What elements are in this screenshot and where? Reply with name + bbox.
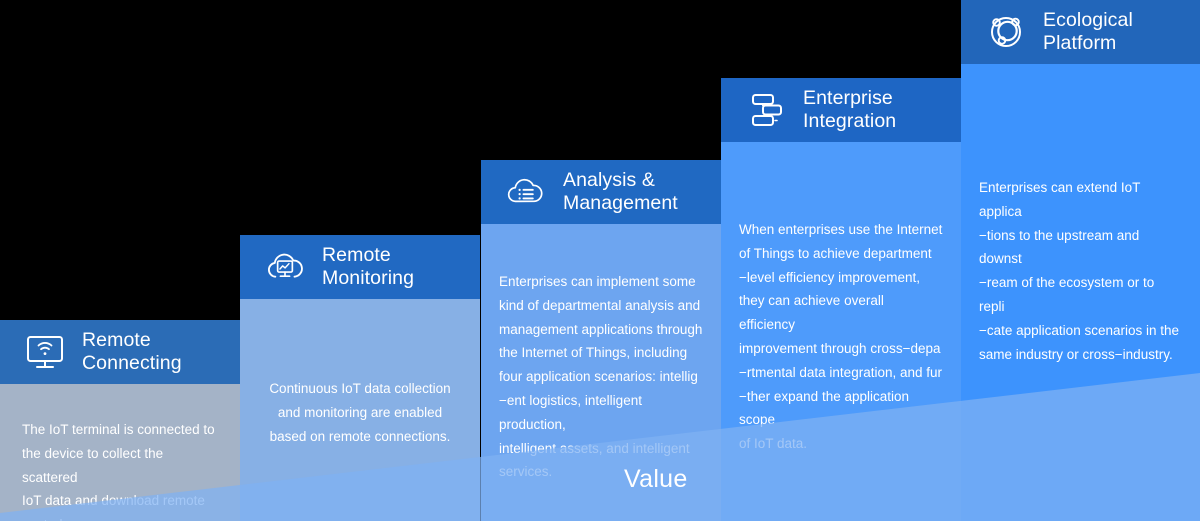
stage-title: Enterprise Integration (803, 87, 896, 133)
stage-card-remote-connecting[interactable]: Remote Connecting The IoT terminal is co… (0, 320, 240, 521)
monitor-wifi-icon (22, 329, 68, 375)
stage-title: Ecological Platform (1043, 9, 1133, 55)
stage-header: Remote Connecting (0, 320, 240, 384)
stage-header: Remote Monitoring (240, 235, 480, 299)
stage-header: Ecological Platform (961, 0, 1200, 64)
stage-card-enterprise-integration[interactable]: Enterprise Integration When enterprises … (721, 78, 961, 521)
stage-header: Enterprise Integration (721, 78, 961, 142)
stage-card-ecological-platform[interactable]: Ecological Platform Enterprises can exte… (961, 0, 1200, 521)
stage-body: The IoT terminal is connected to the dev… (0, 384, 240, 521)
value-staircase-infographic: Remote Connecting The IoT terminal is co… (0, 0, 1200, 521)
stage-body: Enterprises can extend IoT applica −tion… (961, 64, 1200, 521)
cloud-monitor-chart-icon (262, 244, 308, 290)
orbit-network-icon (983, 9, 1029, 55)
stage-title: Remote Connecting (82, 329, 182, 375)
stage-description: The IoT terminal is connected to the dev… (0, 418, 240, 521)
stage-card-remote-monitoring[interactable]: Remote Monitoring Continuous IoT data co… (240, 235, 480, 521)
stage-description: Enterprises can implement some kind of d… (481, 270, 721, 484)
stacked-blocks-icon (743, 87, 789, 133)
stage-body: When enterprises use the Internet of Thi… (721, 142, 961, 521)
stage-description: Continuous IoT data collection and monit… (240, 377, 480, 448)
value-caption: Value (624, 464, 688, 494)
stage-description: When enterprises use the Internet of Thi… (721, 218, 961, 456)
stage-body: Continuous IoT data collection and monit… (240, 299, 480, 521)
stage-header: Analysis & Management (481, 160, 721, 224)
cloud-list-icon (503, 169, 549, 215)
stage-title: Analysis & Management (563, 169, 678, 215)
stage-description: Enterprises can extend IoT applica −tion… (961, 176, 1200, 366)
stage-title: Remote Monitoring (322, 244, 414, 290)
